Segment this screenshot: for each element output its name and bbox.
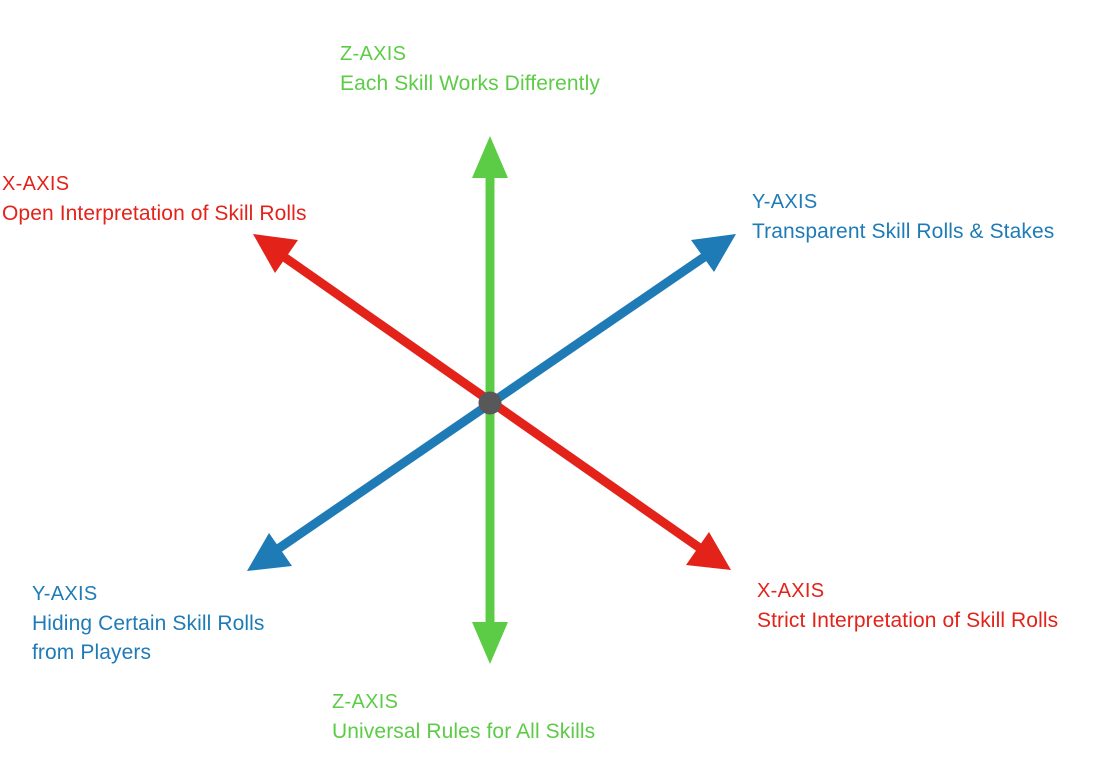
axis-label-y-left-desc-2: from Players (32, 638, 265, 667)
axis-label-y-left-desc: Hiding Certain Skill Rolls (32, 609, 265, 638)
axis-label-z-top-key: Z-AXIS (340, 40, 600, 69)
axis-label-y-right-key: Y-AXIS (752, 188, 1054, 217)
axis-label-z-bottom-desc: Universal Rules for All Skills (332, 717, 595, 746)
axis-label-z-bottom: Z-AXIS Universal Rules for All Skills (332, 688, 595, 746)
axis-label-y-left-key: Y-AXIS (32, 580, 265, 609)
axis-label-x-left-desc: Open Interpretation of Skill Rolls (2, 199, 307, 228)
origin-dot (479, 392, 502, 415)
z-axis-arrowhead-up-icon (472, 136, 508, 178)
axis-label-z-top: Z-AXIS Each Skill Works Differently (340, 40, 600, 98)
axis-diagram-page: { "diagram": { "type": "three-axis-spect… (0, 0, 1106, 772)
axis-label-z-bottom-key: Z-AXIS (332, 688, 595, 717)
axis-label-y-right-desc: Transparent Skill Rolls & Stakes (752, 217, 1054, 246)
axis-label-x-right: X-AXIS Strict Interpretation of Skill Ro… (757, 577, 1058, 635)
z-axis-arrowhead-down-icon (472, 622, 508, 664)
axis-label-x-left: X-AXIS Open Interpretation of Skill Roll… (2, 170, 307, 228)
axis-label-z-top-desc: Each Skill Works Differently (340, 69, 600, 98)
axis-label-x-right-key: X-AXIS (757, 577, 1058, 606)
axis-label-y-left: Y-AXIS Hiding Certain Skill Rolls from P… (32, 580, 265, 667)
axis-label-y-right: Y-AXIS Transparent Skill Rolls & Stakes (752, 188, 1054, 246)
axis-label-x-left-key: X-AXIS (2, 170, 307, 199)
axis-label-x-right-desc: Strict Interpretation of Skill Rolls (757, 606, 1058, 635)
